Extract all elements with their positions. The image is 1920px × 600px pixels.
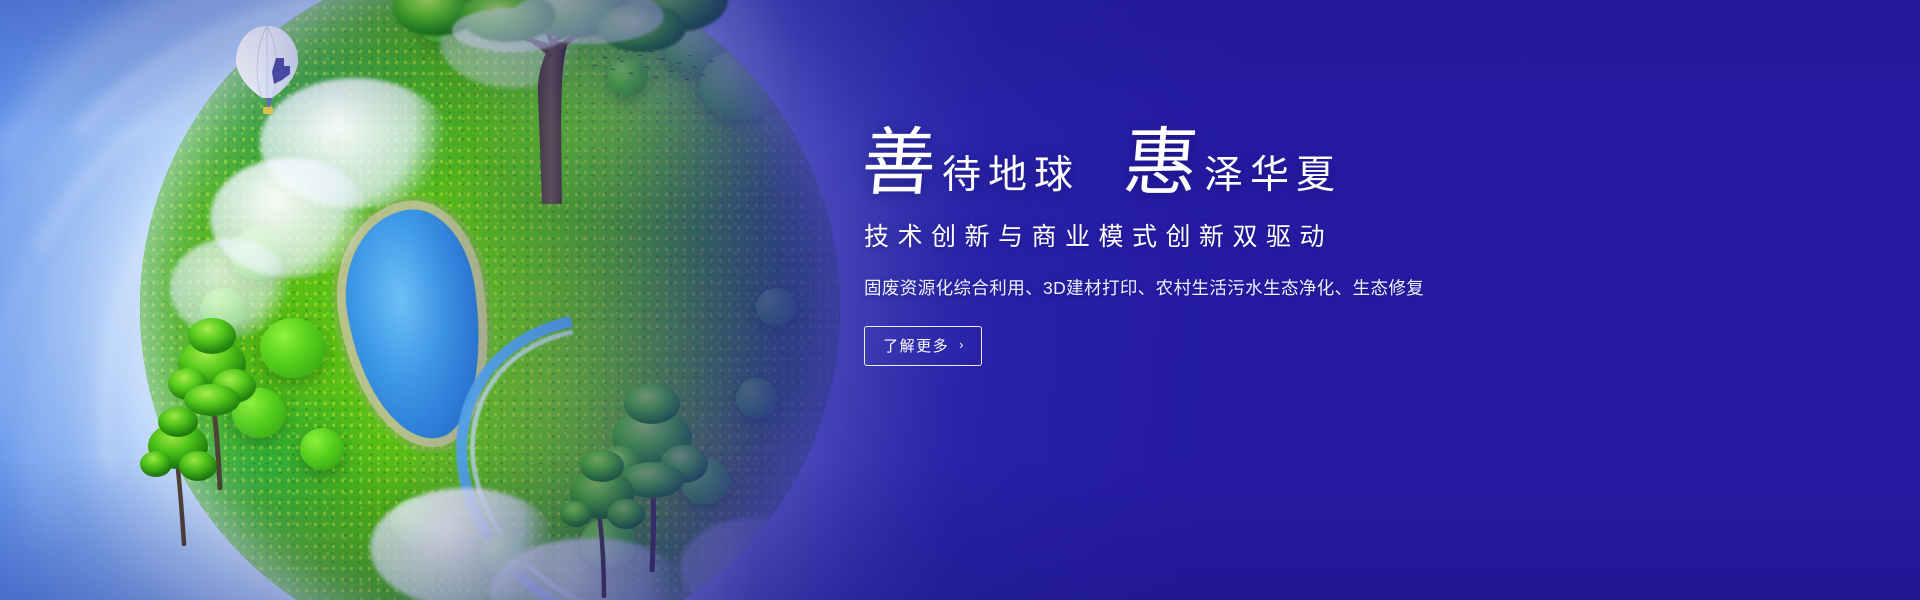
hero-copy: 善 待地球 惠 泽华夏 技术创新与商业模式创新双驱动 固废资源化综合利用、3D建… bbox=[862, 128, 1562, 366]
lake bbox=[333, 201, 497, 449]
cloud-puff bbox=[210, 158, 370, 278]
headline-part1-small: 待地球 bbox=[942, 156, 1080, 201]
description: 固废资源化综合利用、3D建材打印、农村生活污水生态净化、生态修复 bbox=[864, 275, 1562, 300]
large-tree-icon bbox=[392, 0, 732, 204]
bird-flock-icon bbox=[588, 48, 718, 96]
tree-blob bbox=[736, 378, 778, 418]
chevron-right-icon: › bbox=[959, 337, 965, 352]
rim-tree-icon bbox=[140, 396, 220, 546]
tree-blob bbox=[756, 288, 796, 326]
rim-tree-icon bbox=[560, 438, 646, 598]
hot-air-balloon-icon bbox=[232, 22, 302, 122]
headline-part1-big: 善 bbox=[859, 128, 939, 201]
page-title: 善 待地球 惠 泽华夏 bbox=[862, 128, 1562, 201]
cloud-puff bbox=[370, 488, 560, 600]
tree-blob bbox=[390, 498, 442, 544]
tree-blob bbox=[300, 428, 344, 470]
headline-part2-small: 泽华夏 bbox=[1204, 156, 1342, 201]
headline-part2-big: 惠 bbox=[1121, 128, 1201, 201]
subtitle: 技术创新与商业模式创新双驱动 bbox=[864, 217, 1562, 253]
learn-more-button[interactable]: 了解更多 › bbox=[864, 326, 982, 366]
tree-blob bbox=[480, 534, 528, 576]
tree-blob bbox=[230, 228, 286, 280]
tree-blob bbox=[260, 318, 326, 378]
learn-more-label: 了解更多 bbox=[883, 335, 949, 356]
hero-banner: 善 待地球 惠 泽华夏 技术创新与商业模式创新双驱动 固废资源化综合利用、3D建… bbox=[0, 0, 1920, 600]
